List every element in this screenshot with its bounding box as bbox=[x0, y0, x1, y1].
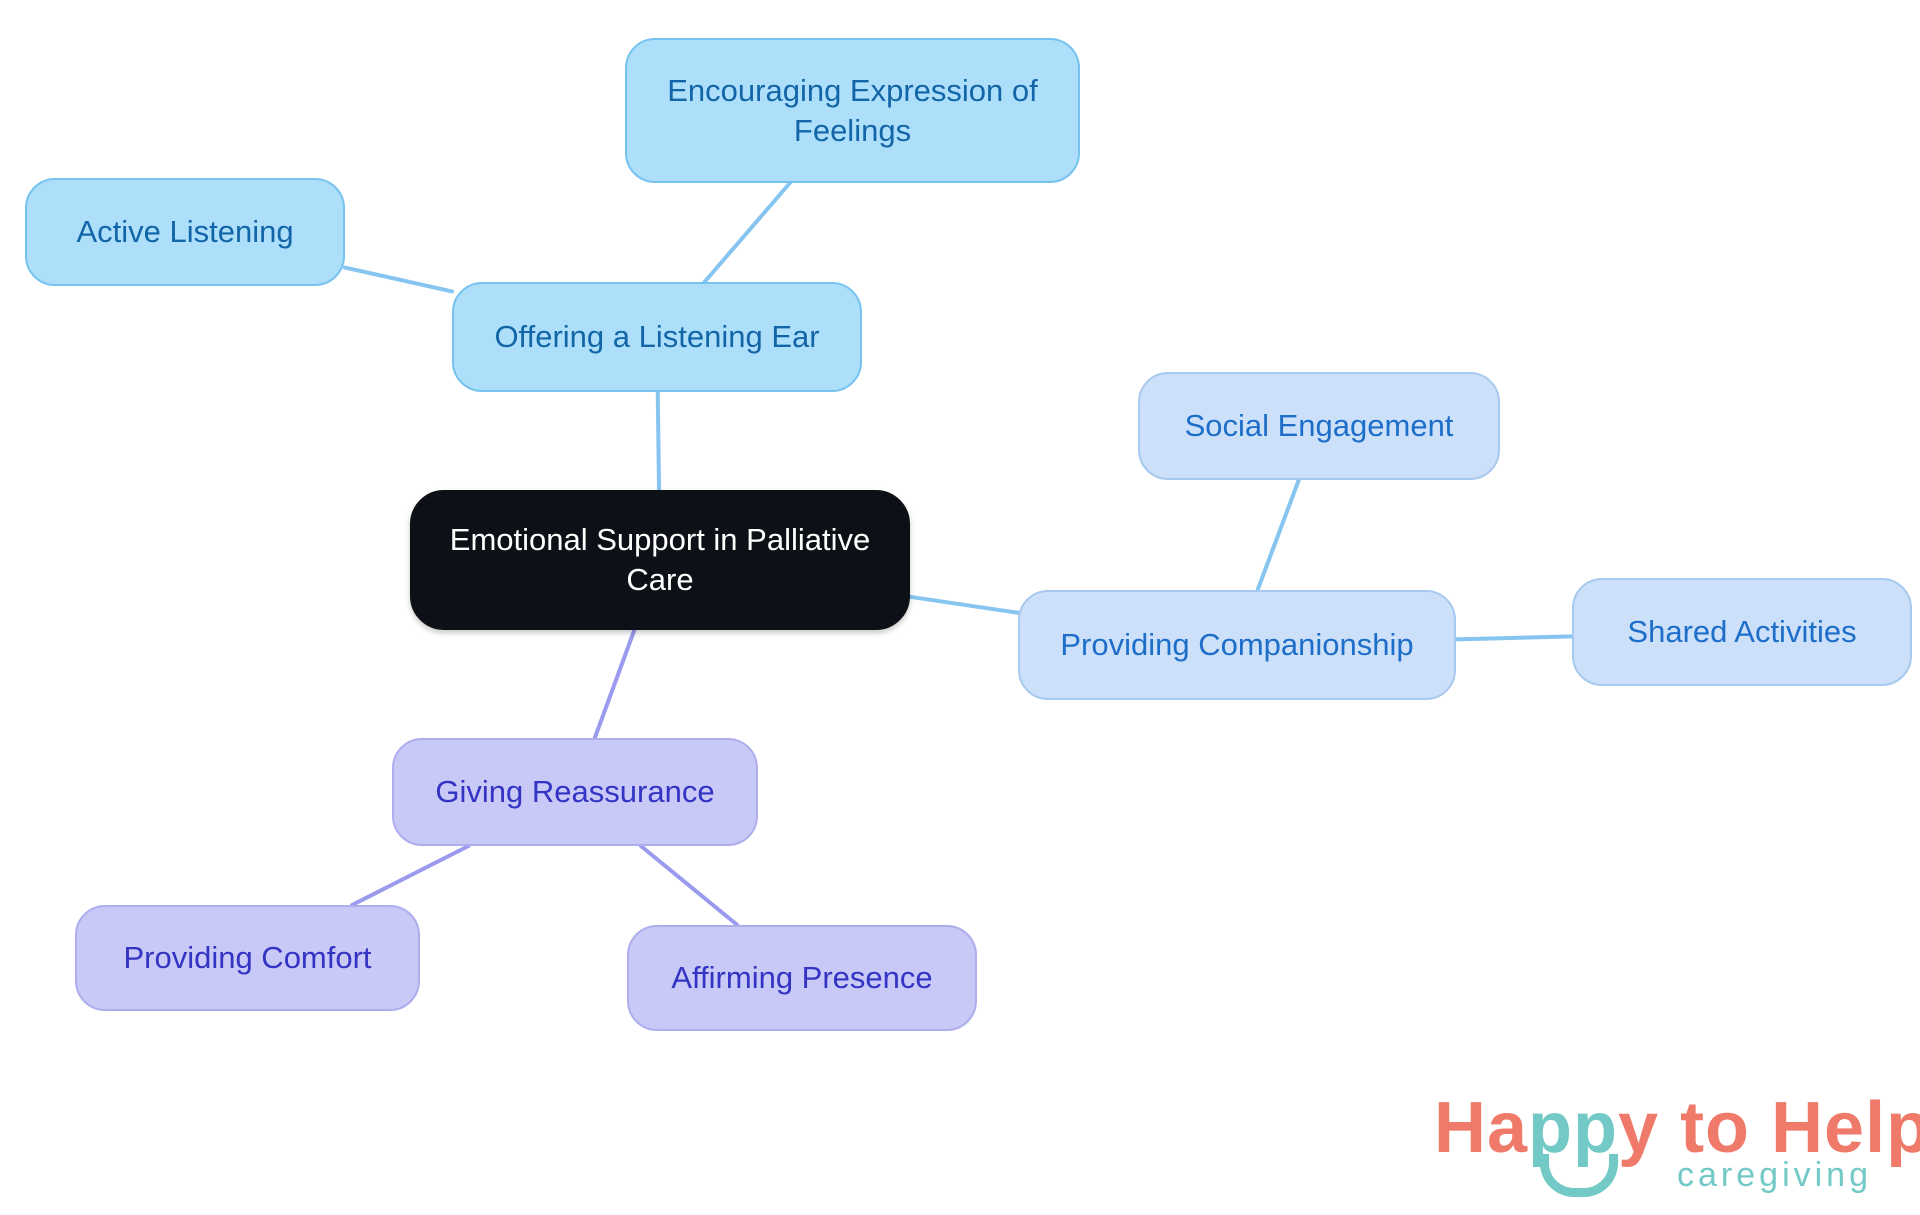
brand-logo: Happy to Help caregiving bbox=[1434, 1092, 1874, 1202]
node-shared-activities[interactable]: Shared Activities bbox=[1572, 578, 1912, 686]
node-active-listening[interactable]: Active Listening bbox=[25, 178, 345, 286]
node-providing-companionship[interactable]: Providing Companionship bbox=[1018, 590, 1456, 700]
node-root-emotional-support[interactable]: Emotional Support in Palliative Care bbox=[410, 490, 910, 630]
edge-giving-reassurance-to-providing-comfort bbox=[352, 846, 468, 905]
node-providing-comfort[interactable]: Providing Comfort bbox=[75, 905, 420, 1011]
node-affirming-presence[interactable]: Affirming Presence bbox=[627, 925, 977, 1031]
edge-root-to-offering-a-listening-ear bbox=[658, 392, 659, 490]
mindmap-canvas: Active Listening Encouraging Expression … bbox=[0, 0, 1920, 1215]
node-encouraging-expression-of-feelings[interactable]: Encouraging Expression of Feelings bbox=[625, 38, 1080, 183]
edge-providing-companionship-to-shared-activities bbox=[1456, 636, 1572, 639]
edge-root-to-giving-reassurance bbox=[595, 630, 635, 738]
node-social-engagement[interactable]: Social Engagement bbox=[1138, 372, 1500, 480]
logo-wordmark: Happy to Help bbox=[1434, 1092, 1920, 1164]
logo-text-ha: Ha bbox=[1434, 1088, 1528, 1168]
edge-providing-companionship-to-social-engagement bbox=[1258, 480, 1299, 590]
edge-giving-reassurance-to-affirming-presence bbox=[641, 846, 737, 925]
smile-icon bbox=[1540, 1154, 1618, 1197]
edge-offering-a-listening-ear-to-active-listening bbox=[345, 268, 452, 292]
edge-offering-a-listening-ear-to-encouraging-expression-of-feelings bbox=[704, 183, 789, 282]
edge-root-to-providing-companionship bbox=[910, 597, 1018, 613]
node-offering-a-listening-ear[interactable]: Offering a Listening Ear bbox=[452, 282, 862, 392]
logo-tagline: caregiving bbox=[1677, 1158, 1872, 1192]
logo-text-y: y bbox=[1618, 1088, 1659, 1168]
node-giving-reassurance[interactable]: Giving Reassurance bbox=[392, 738, 758, 846]
